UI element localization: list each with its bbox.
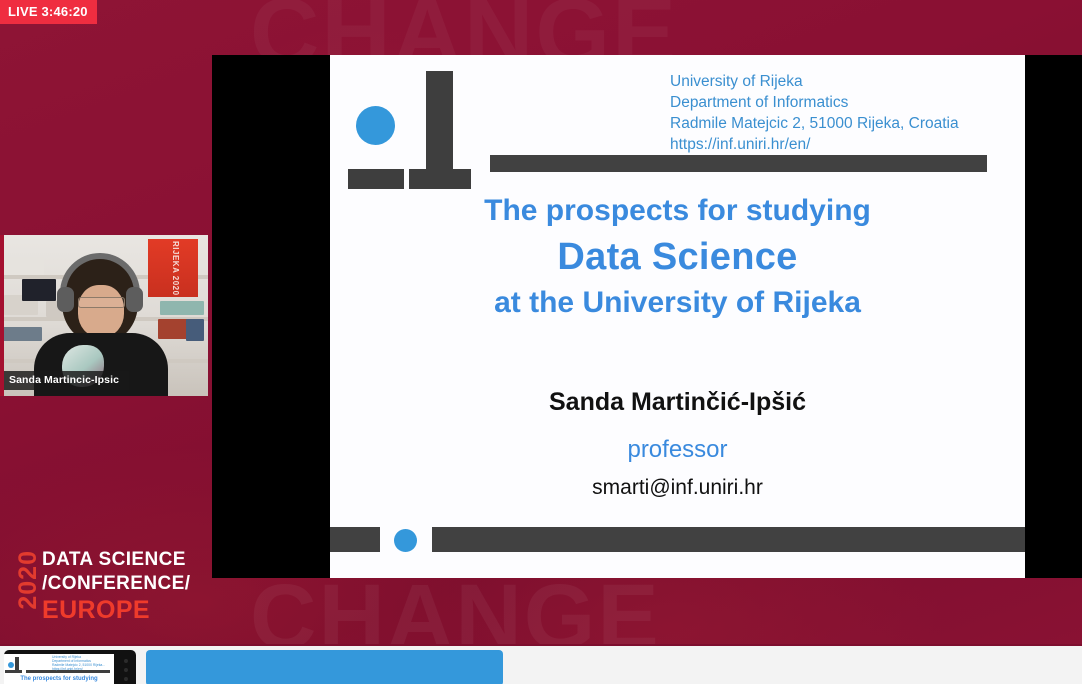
bottom-toolbar: University of Rijeka Department of Infor…	[0, 644, 1082, 684]
slide-header-rule	[490, 155, 987, 172]
webcam-name-label: Sanda Martincic-Ipsic	[0, 371, 129, 390]
org-department: Department of Informatics	[670, 92, 959, 113]
presenter-role: professor	[330, 427, 1025, 473]
conference-line-3: EUROPE	[42, 596, 190, 624]
conference-line-2: /CONFERENCE/	[42, 572, 190, 596]
thumb-title-line-1: The prospects for studying	[4, 675, 114, 683]
slide-page: University of Rijeka Department of Infor…	[330, 55, 1025, 578]
logo-dot-icon	[356, 106, 395, 145]
conference-logo: 2020 DATA SCIENCE /CONFERENCE/ EUROPE	[14, 548, 194, 620]
shelf-item	[2, 327, 42, 341]
shelf-item	[4, 257, 44, 275]
presenter-email: smarti@inf.uniri.hr	[330, 473, 1025, 503]
slide-thumbnail[interactable]: University of Rijeka Department of Infor…	[4, 650, 136, 684]
slide-letterbox: University of Rijeka Department of Infor…	[212, 55, 1082, 578]
conference-line-1: DATA SCIENCE	[42, 548, 190, 572]
presenter-block: Sanda Martinčić-Ipšić professor smarti@i…	[330, 385, 1025, 503]
footer-dot-icon	[394, 529, 417, 552]
title-line-2: Data Science	[330, 232, 1025, 282]
shelf-item	[186, 319, 204, 341]
slide-thumbnail-page: University of Rijeka Department of Infor…	[4, 654, 114, 684]
webcam-accent-bar	[0, 235, 4, 396]
org-address: Radmile Matejcic 2, 51000 Rijeka, Croati…	[670, 113, 959, 134]
live-status-badge: LIVE 3:46:20	[0, 0, 97, 24]
org-university: University of Rijeka	[670, 71, 959, 92]
title-line-1: The prospects for studying	[330, 190, 1025, 232]
organization-block: University of Rijeka Department of Infor…	[670, 71, 959, 155]
thumb-org-line-4: https://inf.uniri.hr/en/	[52, 667, 105, 671]
thumb-organization: University of Rijeka Department of Infor…	[52, 655, 105, 671]
webcam-tile[interactable]: RIJEKA 2020 Sanda Martincic-Ipsic	[0, 235, 208, 396]
slide-title: The prospects for studying Data Science …	[330, 190, 1025, 324]
headphone-earcup-right	[126, 287, 143, 312]
menu-dot	[124, 659, 128, 663]
uniri-informatics-logo	[346, 71, 496, 181]
poster-text: RIJEKA 2020	[170, 241, 180, 296]
headphone-earcup-left	[57, 287, 74, 312]
conference-year: 2020	[14, 550, 43, 610]
logo-one-stem-icon	[426, 71, 453, 171]
slide-thumbnail-wrapper[interactable]: University of Rijeka Department of Infor…	[4, 650, 136, 684]
presenter-name: Sanda Martinčić-Ipšić	[330, 385, 1025, 419]
shelf-item	[158, 319, 188, 339]
menu-dot	[124, 668, 128, 672]
thumb-title: The prospects for studying Data Science	[4, 675, 114, 684]
org-website: https://inf.uniri.hr/en/	[670, 134, 959, 155]
stream-viewport: CHANGE CHANGE LIVE 3:46:20 University of…	[0, 0, 1082, 684]
conference-logo-lines: DATA SCIENCE /CONFERENCE/ EUROPE	[42, 548, 190, 624]
thumb-logo-one-foot-icon	[12, 670, 22, 673]
timeline-progress-bar[interactable]	[146, 650, 503, 684]
thumb-logo-dot-icon	[8, 662, 14, 668]
menu-dot	[124, 677, 128, 681]
shelf-item	[160, 301, 204, 315]
logo-dot-base-icon	[348, 169, 404, 189]
thumbnail-overflow-menu-icon[interactable]	[124, 659, 128, 681]
thumb-logo-one-stem-icon	[15, 657, 19, 671]
toolbar-empty-area	[503, 650, 1082, 684]
logo-one-foot-icon	[409, 169, 471, 189]
slide-footer-rule	[330, 527, 1025, 552]
shelf-item	[22, 279, 56, 301]
title-line-3: at the University of Rijeka	[330, 282, 1025, 324]
